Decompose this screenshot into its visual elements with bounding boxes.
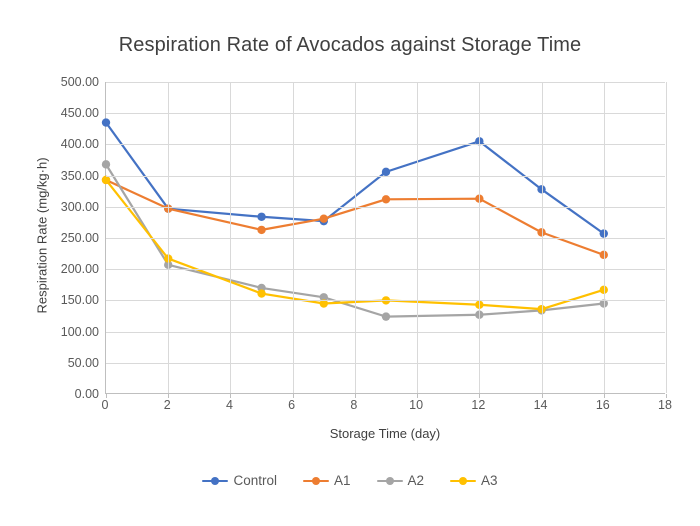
data-point-control — [257, 213, 265, 221]
legend-item-a2[interactable]: A2 — [377, 473, 425, 488]
gridline-horizontal — [106, 363, 665, 364]
plot-area — [105, 82, 665, 394]
legend-swatch-icon — [450, 475, 476, 487]
data-point-a1 — [257, 226, 265, 234]
data-point-a3 — [257, 289, 265, 297]
gridline-vertical — [479, 82, 480, 393]
legend-swatch-icon — [377, 475, 403, 487]
x-axis-tick-label: 18 — [645, 398, 685, 412]
y-axis-tick-label: 450.00 — [31, 106, 99, 120]
x-axis-title: Storage Time (day) — [105, 426, 665, 441]
x-axis-tick-label: 12 — [458, 398, 498, 412]
gridline-horizontal — [106, 238, 665, 239]
x-axis-tick-label: 2 — [147, 398, 187, 412]
y-axis-tick-label: 500.00 — [31, 75, 99, 89]
x-axis-tick-label: 0 — [85, 398, 125, 412]
data-point-a3 — [102, 176, 110, 184]
x-axis-tick-label: 10 — [396, 398, 436, 412]
x-axis-tick-label: 16 — [583, 398, 623, 412]
gridline-horizontal — [106, 207, 665, 208]
legend-label: A1 — [334, 473, 351, 488]
legend-label: A3 — [481, 473, 498, 488]
data-point-a2 — [102, 160, 110, 168]
gridline-vertical — [168, 82, 169, 393]
legend-item-a1[interactable]: A1 — [303, 473, 351, 488]
chart-container: Respiration Rate of Avocados against Sto… — [0, 0, 700, 526]
gridline-vertical — [604, 82, 605, 393]
gridline-vertical — [230, 82, 231, 393]
y-axis-tick-label: 50.00 — [31, 356, 99, 370]
gridline-horizontal — [106, 144, 665, 145]
gridline-horizontal — [106, 300, 665, 301]
gridline-horizontal — [106, 269, 665, 270]
gridline-vertical — [542, 82, 543, 393]
x-axis-tick-label: 4 — [209, 398, 249, 412]
gridline-vertical — [355, 82, 356, 393]
data-point-a1 — [320, 214, 328, 222]
legend-item-control[interactable]: Control — [202, 473, 277, 488]
gridline-horizontal — [106, 176, 665, 177]
y-axis-tick-label: 200.00 — [31, 262, 99, 276]
y-axis-tick-label: 300.00 — [31, 200, 99, 214]
y-axis-tick-label: 150.00 — [31, 293, 99, 307]
gridline-vertical — [666, 82, 667, 393]
legend-label: A2 — [408, 473, 425, 488]
data-point-a1 — [382, 195, 390, 203]
y-axis-tick-label: 250.00 — [31, 231, 99, 245]
chart-legend: ControlA1A2A3 — [0, 473, 700, 488]
x-axis-tick-labels: 024681012141618 — [105, 398, 665, 418]
y-axis-tick-label: 350.00 — [31, 169, 99, 183]
gridline-horizontal — [106, 113, 665, 114]
x-axis-tick-label: 8 — [334, 398, 374, 412]
legend-swatch-icon — [202, 475, 228, 487]
y-axis-tick-label: 400.00 — [31, 137, 99, 151]
legend-label: Control — [233, 473, 277, 488]
gridline-vertical — [293, 82, 294, 393]
gridline-horizontal — [106, 332, 665, 333]
legend-item-a3[interactable]: A3 — [450, 473, 498, 488]
gridline-vertical — [417, 82, 418, 393]
chart-title: Respiration Rate of Avocados against Sto… — [0, 34, 700, 57]
legend-swatch-icon — [303, 475, 329, 487]
y-axis-tick-label: 100.00 — [31, 325, 99, 339]
y-axis-tick-labels: 0.0050.00100.00150.00200.00250.00300.003… — [27, 82, 99, 394]
data-point-control — [102, 118, 110, 126]
data-point-a2 — [382, 312, 390, 320]
x-axis-tick-label: 6 — [272, 398, 312, 412]
gridline-horizontal — [106, 82, 665, 83]
x-axis-tick-label: 14 — [521, 398, 561, 412]
